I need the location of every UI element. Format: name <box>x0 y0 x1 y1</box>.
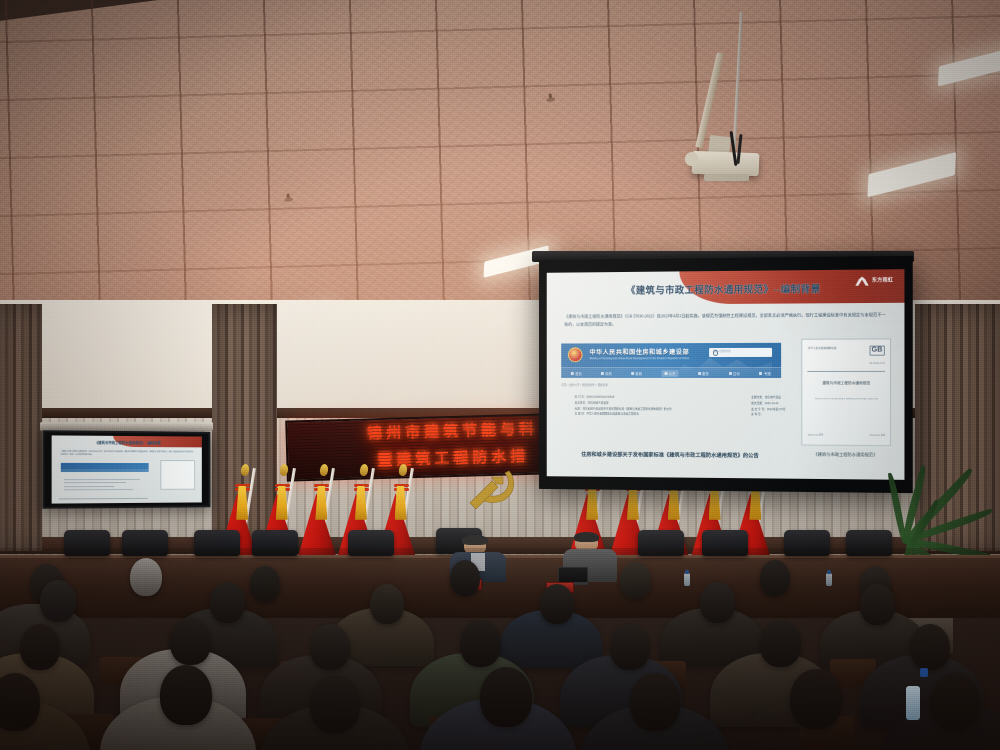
gb-title-cn: 建筑与市政工程防水通用规范 <box>809 381 883 386</box>
audience-head <box>540 584 574 624</box>
audience-head <box>20 624 60 670</box>
projector-body <box>691 151 759 176</box>
nav-item-service[interactable]: 服务 <box>698 371 709 376</box>
wall-monitor-left[interactable]: 《建筑与市政工程防水通用规范》--编制背景 《建筑与市政工程防水通用规范》（GB… <box>42 430 210 508</box>
nav-item-disclosure[interactable]: 公开 <box>661 370 678 377</box>
monitor-slide-metadata-lines <box>64 476 140 493</box>
gb-effective-date: 2023-04-01 实施 <box>869 434 885 437</box>
breadcrumb: 首页 > 政务公开 > 规范性文件 > 国家标准 <box>561 382 607 386</box>
audience-head <box>450 560 480 596</box>
ministry-name: 中华人民共和国住房和城乡建设部 <box>589 348 689 357</box>
audience-head <box>760 620 801 667</box>
audience-head <box>910 624 950 670</box>
mohurd-website-screenshot: 中华人民共和国住房和城乡建设部 Ministry of Housing and … <box>561 343 780 378</box>
metadata-row: 主 题 词：中华人民共和国国家标准建筑与市政工程防水 <box>575 412 737 418</box>
presentation-slide: 东方雨虹 《建筑与市政工程防水通用规范》--编制背景 《建筑与市政工程防水通用规… <box>547 269 904 480</box>
audience-head <box>370 584 404 624</box>
audience-head <box>170 618 211 665</box>
gb-footer: 2022-10-24 发布 2023-04-01 实施 <box>808 434 885 437</box>
gb-header: 中华人民共和国国家标准 GB <box>808 346 885 356</box>
bottle-cap-icon <box>920 668 928 677</box>
national-emblem-icon <box>568 348 583 363</box>
gb-header-cn: 中华人民共和国国家标准 <box>808 346 837 350</box>
gb-divider <box>808 371 885 372</box>
audience-head <box>760 560 790 596</box>
monitor-top-roller <box>40 422 213 430</box>
ministry-name-english: Ministry of Housing and Urban-Rural Deve… <box>589 357 689 360</box>
conference-hall-photo: 锦州市建筑节能与科 暨建筑工程防水措 <box>0 0 1000 750</box>
projector-pole <box>695 52 724 148</box>
nav-item-interaction[interactable]: 互动 <box>729 371 740 376</box>
audience-head <box>250 566 280 602</box>
audience-head <box>160 665 212 725</box>
speaker-hair <box>462 535 487 545</box>
audience-head <box>40 580 76 622</box>
audience-area <box>0 548 1000 750</box>
audience-head <box>700 582 735 623</box>
monitor-slide-gb-document <box>161 460 195 490</box>
audience-head <box>630 673 680 731</box>
projector-plate <box>704 174 749 181</box>
slide-title: 《建筑与市政工程防水通用规范》--编制背景 <box>547 281 904 298</box>
slide-paragraph: 《建筑与市政工程防水通用规范》（GB 55030-2022）自2023年4月1日… <box>564 311 885 328</box>
nav-item-news[interactable]: 新闻 <box>631 371 642 376</box>
curtain-left <box>0 304 42 552</box>
monitor-slide-paragraph: 《建筑与市政工程防水通用规范》（GB 55030-2022）自2023年4月1日… <box>61 450 194 457</box>
gb-title-en: General code for waterproofing of buildi… <box>809 398 883 400</box>
audience-head <box>310 675 360 733</box>
monitor-slide-title: 《建筑与市政工程防水通用规范》--编制背景 <box>51 439 202 445</box>
gb-standard-cover: 中华人民共和国国家标准 GB GB 55030-2022 建筑与市政工程防水通用… <box>801 338 891 445</box>
announcement-title: 住房和城乡建设部关于发布国家标准《建筑与市政工程防水通用规范》的公告 <box>561 450 780 460</box>
nav-item-home[interactable]: 首页 <box>571 371 582 376</box>
audience-head <box>310 624 350 670</box>
monitor-slide-surface: 《建筑与市政工程防水通用规范》--编制背景 《建筑与市政工程防水通用规范》（GB… <box>51 435 202 503</box>
audience-head <box>480 667 532 727</box>
speaker-hair <box>574 532 599 542</box>
audience-head <box>610 624 650 670</box>
monitor-slide-footer-line <box>59 497 147 499</box>
gb-number: GB 55030-2022 <box>869 363 885 365</box>
ceiling-projector <box>690 53 770 188</box>
search-icon <box>713 350 718 355</box>
audience-head <box>210 582 245 623</box>
cpc-hammer-sickle-emblem <box>462 467 522 513</box>
gb-issue-date: 2022-10-24 发布 <box>808 434 824 437</box>
website-nav: 首页 机构 新闻 公开 服务 互动 专题 <box>561 367 780 379</box>
nav-item-org[interactable]: 机构 <box>601 371 612 376</box>
audience-head <box>790 669 842 729</box>
website-search-box[interactable]: 请输入搜索内容 <box>710 348 772 357</box>
nav-item-topics[interactable]: 专题 <box>759 371 770 376</box>
audience-head <box>930 673 980 731</box>
audience-head <box>460 620 501 667</box>
audience-head <box>130 558 162 596</box>
audience-water-bottle <box>906 686 920 720</box>
audience-head <box>620 562 651 599</box>
gb-mark: GB <box>869 346 885 356</box>
monitor-slide-website-strip <box>61 462 149 472</box>
audience-head <box>860 584 895 625</box>
document-metadata-left: 索 引 号：000013338/2022-00918 发文机关：住房和城乡建设部… <box>575 395 737 419</box>
